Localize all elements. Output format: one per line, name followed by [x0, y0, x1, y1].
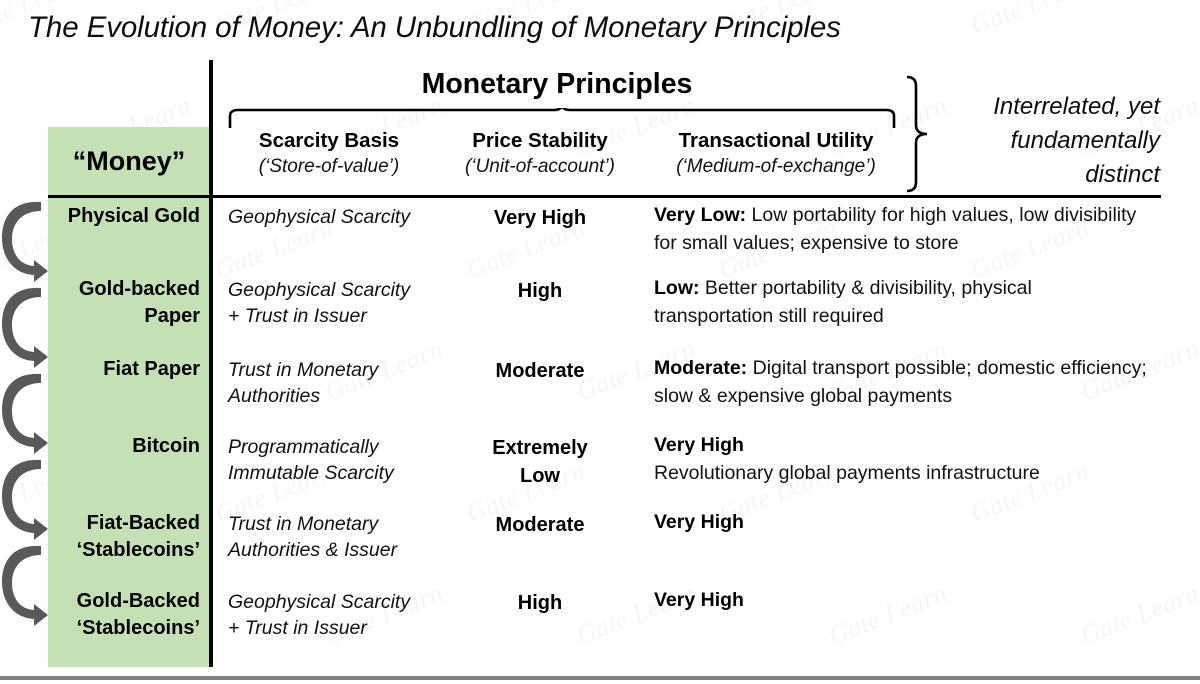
- row-label-line: Physical Gold: [48, 203, 200, 230]
- column-header-alias: (‘Unit-of-account’): [440, 154, 640, 180]
- row-label-money: Bitcoin: [48, 433, 200, 460]
- row-label-line: Paper: [48, 303, 200, 330]
- column-header-scarcity-basis: Scarcity Basis (‘Store-of-value’): [218, 128, 440, 180]
- row-label-line: Gold-Backed: [48, 588, 200, 615]
- column-header-title: Transactional Utility: [640, 128, 912, 154]
- cell-scarcity-basis: Geophysical Scarcity+ Trust in Issuer: [228, 589, 446, 641]
- curved-arrow-icon: [0, 368, 48, 454]
- curved-arrow-icon: [0, 454, 48, 540]
- cell-line: Geophysical Scarcity: [228, 589, 446, 615]
- cell-transactional-utility: Very Low: Low portability for high value…: [654, 201, 1154, 257]
- utility-description: Better portability & divisibility, physi…: [654, 277, 1032, 327]
- cell-line: Extremely: [440, 434, 640, 462]
- group-brace-icon: [228, 108, 896, 128]
- cell-price-stability: Very High: [440, 204, 640, 232]
- cell-line: Programmatically: [228, 434, 446, 460]
- cell-scarcity-basis: ProgrammaticallyImmutable Scarcity: [228, 434, 446, 486]
- cell-line: Immutable Scarcity: [228, 460, 446, 486]
- cell-scarcity-basis: Trust in MonetaryAuthorities & Issuer: [228, 511, 446, 563]
- cell-line: High: [440, 589, 640, 617]
- cell-transactional-utility: Moderate: Digital transport possible; do…: [654, 354, 1154, 410]
- cell-line: Geophysical Scarcity: [228, 204, 446, 230]
- utility-rating: Very High: [654, 431, 1154, 459]
- cell-transactional-utility: Very HighRevolutionary global payments i…: [654, 431, 1154, 487]
- curved-arrow-icon: [0, 196, 48, 282]
- evolution-arrows: [0, 196, 48, 666]
- cell-line: Trust in Monetary: [228, 357, 446, 383]
- column-header-title: Scarcity Basis: [218, 128, 440, 154]
- column-header-transactional-utility: Transactional Utility (‘Medium-of-exchan…: [640, 128, 912, 180]
- column-header-alias: (‘Store-of-value’): [218, 154, 440, 180]
- utility-rating: Low:: [654, 277, 705, 299]
- header-divider: [48, 195, 1161, 198]
- cell-line: + Trust in Issuer: [228, 615, 446, 641]
- utility-description: Revolutionary global payments infrastruc…: [654, 459, 1154, 487]
- interrelated-note-line: fundamentally: [930, 124, 1160, 158]
- column-header-alias: (‘Medium-of-exchange’): [640, 154, 912, 180]
- cell-transactional-utility: Very High: [654, 586, 1154, 614]
- cell-transactional-utility: Low: Better portability & divisibility, …: [654, 274, 1154, 330]
- utility-rating: Very Low:: [654, 204, 752, 226]
- cell-line: Trust in Monetary: [228, 511, 446, 537]
- row-label-money: Gold-Backed‘Stablecoins’: [48, 588, 200, 642]
- cell-transactional-utility: Very High: [654, 508, 1154, 536]
- row-label-money: Physical Gold: [48, 203, 200, 230]
- page-title: The Evolution of Money: An Unbundling of…: [28, 6, 1028, 50]
- cell-price-stability: Moderate: [440, 357, 640, 385]
- cell-scarcity-basis: Geophysical Scarcity: [228, 204, 446, 230]
- row-label-money: Fiat-Backed‘Stablecoins’: [48, 510, 200, 564]
- row-label-line: Fiat-Backed: [48, 510, 200, 537]
- cell-line: Geophysical Scarcity: [228, 277, 446, 303]
- cell-line: Authorities & Issuer: [228, 537, 446, 563]
- cell-scarcity-basis: Geophysical Scarcity+ Trust in Issuer: [228, 277, 446, 329]
- money-column-header: “Money”: [48, 127, 210, 195]
- interrelated-note-line: Interrelated, yet: [930, 90, 1160, 124]
- cell-line: High: [440, 277, 640, 305]
- curved-arrow-icon: [0, 282, 48, 368]
- bottom-bar: [0, 676, 1200, 680]
- cell-price-stability: Moderate: [440, 511, 640, 539]
- cell-line: Moderate: [440, 511, 640, 539]
- row-label-line: Fiat Paper: [48, 356, 200, 383]
- row-label-money: Gold-backedPaper: [48, 276, 200, 330]
- interrelated-note: Interrelated, yetfundamentallydistinct: [930, 90, 1160, 192]
- monetary-principles-title: Monetary Principles: [212, 68, 902, 101]
- cell-line: Very High: [440, 204, 640, 232]
- cell-price-stability: High: [440, 589, 640, 617]
- cell-line: Moderate: [440, 357, 640, 385]
- column-header-title: Price Stability: [440, 128, 640, 154]
- row-label-line: ‘Stablecoins’: [48, 537, 200, 564]
- row-label-line: Gold-backed: [48, 276, 200, 303]
- interrelated-note-line: distinct: [930, 158, 1160, 192]
- cell-line: Authorities: [228, 383, 446, 409]
- infographic-canvas: Gate LearnGate LearnGate LearnGate Learn…: [0, 0, 1200, 684]
- row-label-line: ‘Stablecoins’: [48, 615, 200, 642]
- row-label-money: Fiat Paper: [48, 356, 200, 383]
- cell-price-stability: High: [440, 277, 640, 305]
- cell-scarcity-basis: Trust in MonetaryAuthorities: [228, 357, 446, 409]
- cell-line: Low: [440, 462, 640, 490]
- cell-line: + Trust in Issuer: [228, 303, 446, 329]
- utility-rating: Very High: [654, 508, 1154, 536]
- curved-arrow-icon: [0, 540, 48, 626]
- utility-rating: Very High: [654, 586, 1154, 614]
- cell-price-stability: ExtremelyLow: [440, 434, 640, 490]
- row-label-line: Bitcoin: [48, 433, 200, 460]
- utility-rating: Moderate:: [654, 357, 753, 379]
- column-header-price-stability: Price Stability (‘Unit-of-account’): [440, 128, 640, 180]
